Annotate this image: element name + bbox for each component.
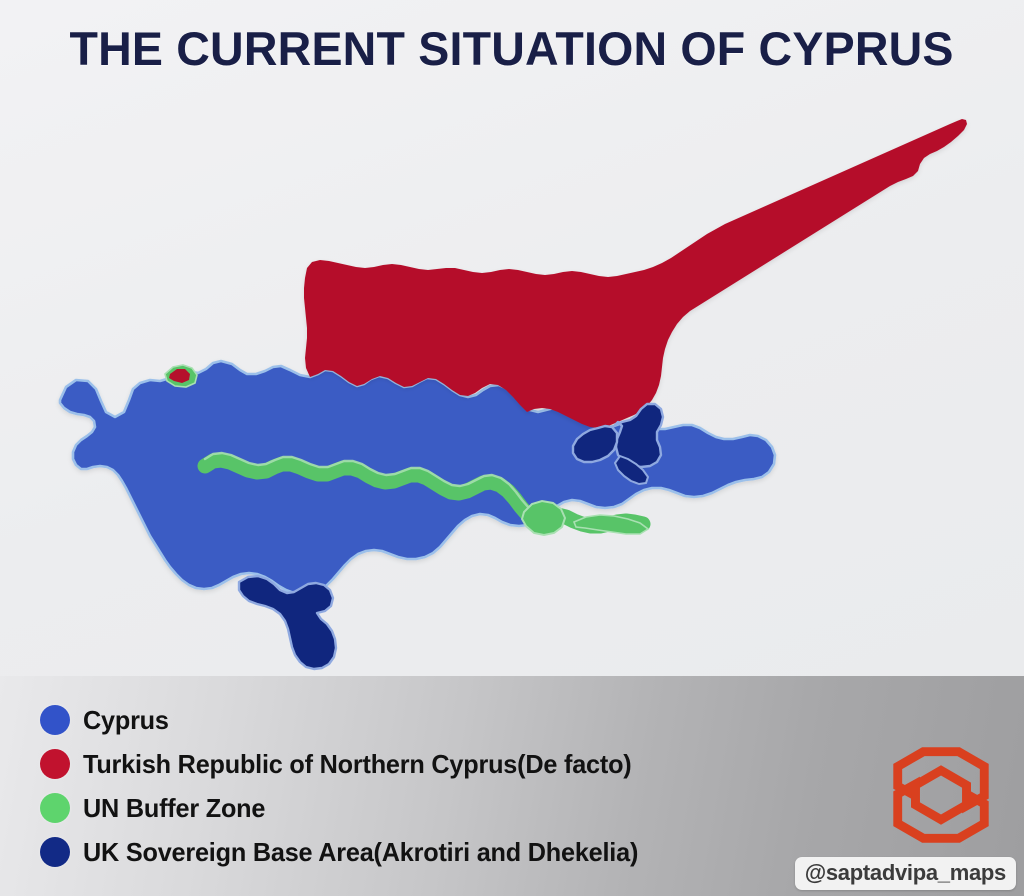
legend-swatch-cyprus: [40, 705, 70, 735]
handle-pill: @saptadvipa_maps: [795, 857, 1016, 890]
map-infographic-page: THE CURRENT SITUATION OF CYPRUS: [0, 0, 1024, 896]
legend-swatch-northern-cyprus: [40, 749, 70, 779]
legend-item-un-buffer-zone[interactable]: UN Buffer Zone: [40, 786, 820, 830]
legend-item-cyprus[interactable]: Cyprus: [40, 698, 820, 742]
legend-swatch-uk-base-area: [40, 837, 70, 867]
legend-label-cyprus: Cyprus: [83, 705, 169, 736]
legend-label-un-buffer-zone: UN Buffer Zone: [83, 793, 265, 824]
legend-item-uk-base-area[interactable]: UK Sovereign Base Area(Akrotiri and Dhek…: [40, 830, 820, 874]
title-bar: THE CURRENT SITUATION OF CYPRUS: [0, 0, 1024, 96]
cyprus-political-map: [0, 90, 1024, 690]
legend-label-uk-base-area: UK Sovereign Base Area(Akrotiri and Dhek…: [83, 837, 638, 868]
legend-item-northern-cyprus[interactable]: Turkish Republic of Northern Cyprus(De f…: [40, 742, 820, 786]
watermark: @saptadvipa_maps: [808, 732, 1018, 892]
legend-panel: Cyprus Turkish Republic of Northern Cypr…: [0, 676, 1024, 896]
region-northern-cyprus: [304, 119, 967, 428]
legend-list: Cyprus Turkish Republic of Northern Cypr…: [40, 698, 820, 874]
saptadvipa-s-hexagon-logo: [882, 736, 1000, 854]
page-title: THE CURRENT SITUATION OF CYPRUS: [70, 21, 954, 76]
map-stage: [0, 90, 1024, 690]
watermark-handle: @saptadvipa_maps: [805, 860, 1006, 885]
region-northern-cyprus-shape: [304, 119, 967, 428]
legend-swatch-un-buffer-zone: [40, 793, 70, 823]
legend-label-northern-cyprus: Turkish Republic of Northern Cyprus(De f…: [83, 749, 631, 780]
